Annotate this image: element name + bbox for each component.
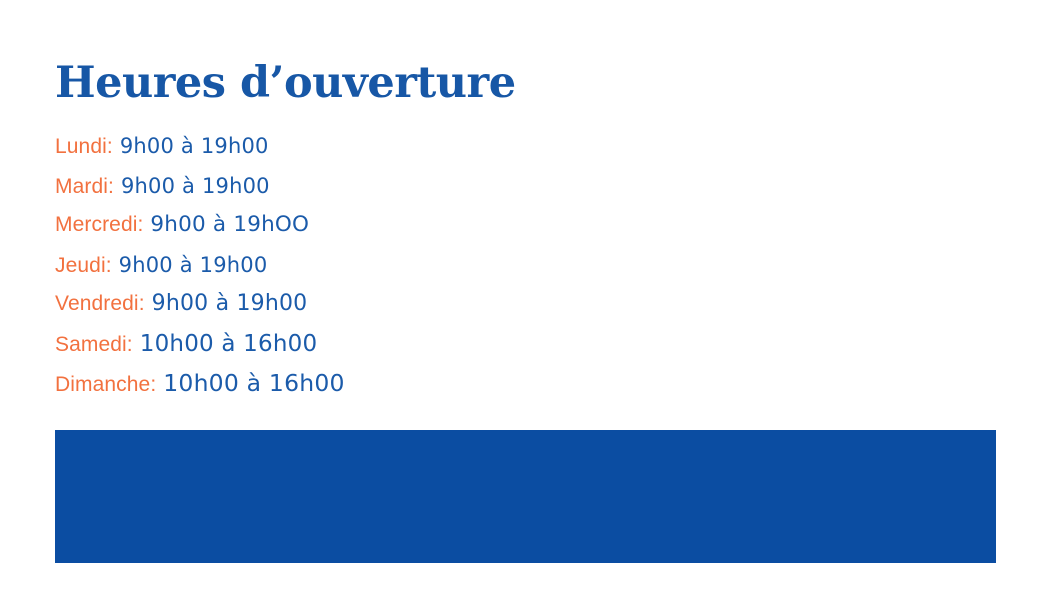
day-hours-value: 10h00 à 16h00 [163, 370, 344, 396]
day-hours-value: 9h00 à 19h00 [120, 133, 269, 159]
day-label: Vendredi: [55, 291, 145, 317]
day-label: Mardi: [55, 174, 114, 200]
day-label: Mercredi: [55, 212, 143, 238]
day-hours-value: 10h00 à 16h00 [140, 331, 318, 357]
list-item: Dimanche: 10h00 à 16h00 [55, 370, 755, 410]
day-label: Lundi: [55, 134, 113, 160]
list-item: Jeudi: 9h00 à 19h00 [55, 252, 755, 292]
page-title: Heures d’ouverture [55, 58, 516, 108]
day-hours-value: 9h00 à 19hOO [150, 212, 309, 238]
day-label: Jeudi: [55, 253, 112, 279]
list-item: Vendredi: 9h00 à 19h00 [55, 291, 755, 331]
list-item: Lundi: 9h00 à 19h00 [55, 133, 755, 173]
slide-canvas: Heures d’ouverture Lundi: 9h00 à 19h00 M… [0, 0, 1050, 600]
content-placeholder-block [55, 430, 996, 563]
opening-hours-list: Lundi: 9h00 à 19h00 Mardi: 9h00 à 19h00 … [55, 133, 755, 410]
day-label: Dimanche: [55, 372, 156, 398]
day-label: Samedi: [55, 332, 133, 358]
day-hours-value: 9h00 à 19h00 [152, 291, 308, 317]
day-hours-value: 9h00 à 19h00 [121, 173, 270, 199]
list-item: Mercredi: 9h00 à 19hOO [55, 212, 755, 252]
day-hours-value: 9h00 à 19h00 [119, 252, 268, 278]
list-item: Mardi: 9h00 à 19h00 [55, 173, 755, 213]
list-item: Samedi: 10h00 à 16h00 [55, 331, 755, 371]
